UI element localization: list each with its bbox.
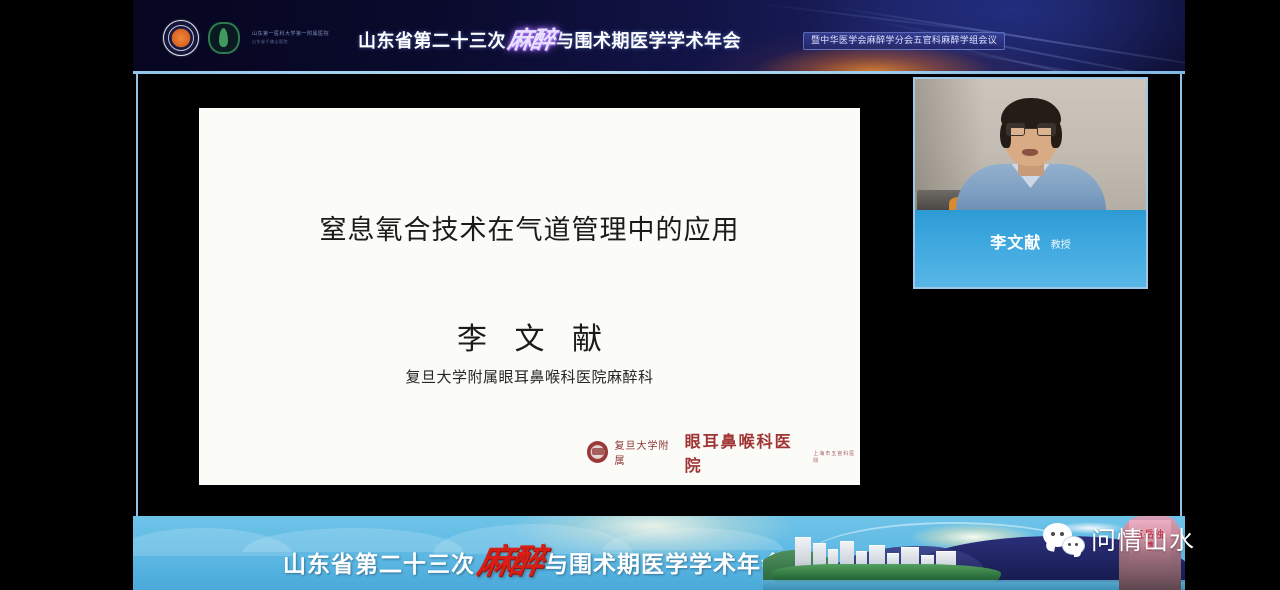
bottom-conference-banner: 山东省第二十三次 麻醉 与围术期医学学术年会 <box>133 516 1185 590</box>
slide-title: 窒息氧合技术在气道管理中的应用 <box>199 208 860 247</box>
bottom-banner-title: 山东省第二十三次 麻醉 与围术期医学学术年会 <box>283 537 785 586</box>
wechat-icon <box>1043 523 1085 555</box>
speaker-figure <box>956 100 1106 210</box>
hospital-logo-prefix: 复旦大学附属 <box>614 437 678 467</box>
banner-logo-group: 山东第一医科大学第一附属医院 山东省千佛山医院 <box>163 20 329 56</box>
broadcast-content-area: 山东第一医科大学第一附属医院 山东省千佛山医院 山东省第二十三次 麻醉 与围术期… <box>133 0 1185 590</box>
wechat-watermark: 问情山水 <box>1043 521 1195 557</box>
banner-subtitle-badge: 暨中华医学会麻醉学分会五官科麻醉学组会议 <box>803 32 1005 50</box>
speaker-name: 李文献 <box>990 233 1041 252</box>
banner-title-calligraphy: 麻醉 <box>506 20 557 55</box>
speaker-mouth <box>1022 149 1038 156</box>
speaker-nameplate: 李文献 教授 <box>915 210 1146 287</box>
hospital-logo-subtitle: 上海市五官科医院 <box>813 450 860 464</box>
speaker-role: 教授 <box>1051 240 1071 251</box>
hospital-seal-icon <box>587 441 608 463</box>
banner-title: 山东省第二十三次 麻醉 与围术期医学学术年会 <box>358 22 741 57</box>
banner-logo-text-line-2: 山东省千佛山医院 <box>252 40 329 44</box>
banner-logo-text-line-1: 山东第一医科大学第一附属医院 <box>252 32 329 37</box>
speaker-video-panel[interactable]: 李文献 教授 <box>913 77 1148 289</box>
university-seal-icon <box>163 20 199 56</box>
bottom-title-part2: 与围术期医学学术年会 <box>545 545 785 579</box>
banner-title-part2: 与围术期医学学术年会 <box>556 27 741 53</box>
presentation-slide: 窒息氧合技术在气道管理中的应用 李 文 献 复旦大学附属眼耳鼻喉科医院麻醉科 复… <box>199 108 860 485</box>
hospital-leaf-icon <box>208 22 240 54</box>
top-conference-banner: 山东第一医科大学第一附属医院 山东省千佛山医院 山东省第二十三次 麻醉 与围术期… <box>133 0 1185 71</box>
slide-affiliation: 复旦大学附属眼耳鼻喉科医院麻醉科 <box>199 366 860 387</box>
banner-logo-text: 山东第一医科大学第一附属医院 山东省千佛山医院 <box>252 32 329 44</box>
slide-hospital-logo: 复旦大学附属 眼耳鼻喉科医院 上海市五官科医院 <box>587 428 860 476</box>
webcam-feed <box>915 79 1146 210</box>
speaker-nameplate-inner: 李文献 教授 <box>915 229 1146 253</box>
hospital-logo-name: 眼耳鼻喉科医院 <box>685 428 808 476</box>
bottom-title-part1: 山东省第二十三次 <box>283 545 475 579</box>
screen-root: 山东第一医科大学第一附属医院 山东省千佛山医院 山东省第二十三次 麻醉 与围术期… <box>0 0 1280 590</box>
watermark-text: 问情山水 <box>1091 521 1195 557</box>
nameplate-footer-strip <box>915 287 1146 289</box>
glasses-icon <box>1006 123 1056 136</box>
video-stage: 窒息氧合技术在气道管理中的应用 李 文 献 复旦大学附属眼耳鼻喉科医院麻醉科 复… <box>136 74 1182 516</box>
slide-presenter-name: 李 文 献 <box>199 314 860 358</box>
banner-title-part1: 山东省第二十三次 <box>358 27 506 53</box>
bottom-title-calligraphy: 麻醉 <box>474 534 547 583</box>
